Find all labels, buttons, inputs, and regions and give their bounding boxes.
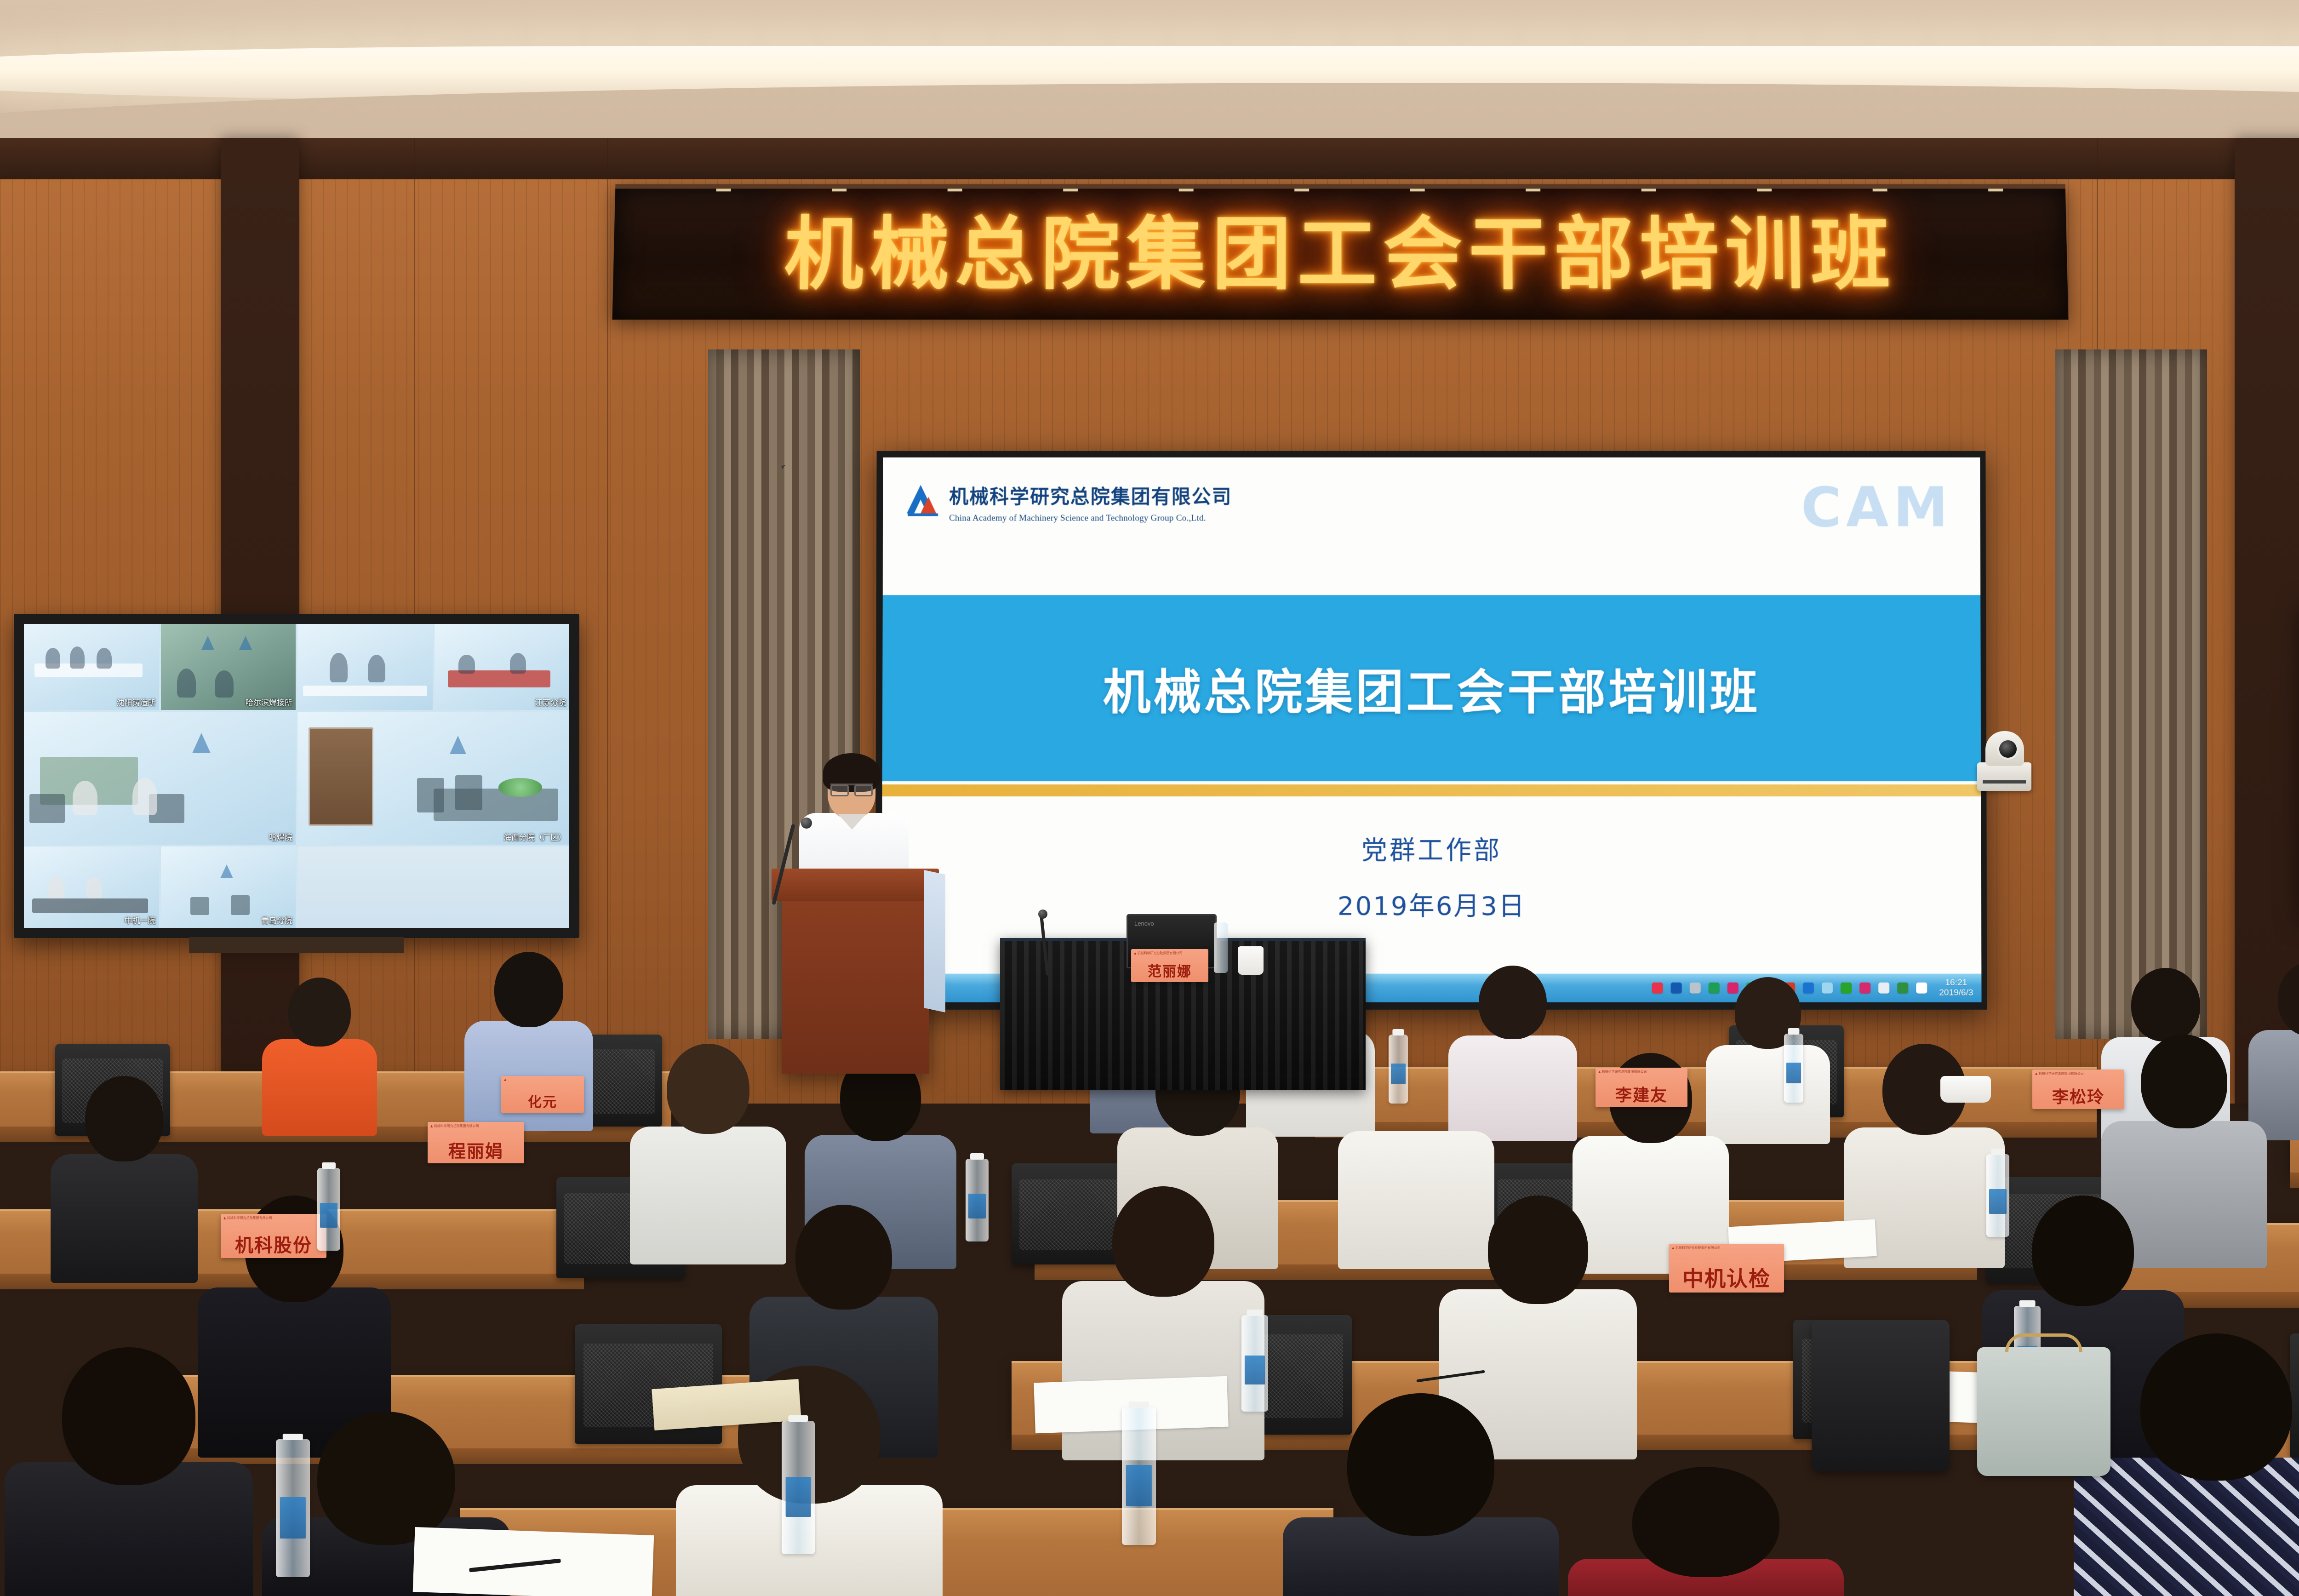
water-bottle xyxy=(1214,922,1228,973)
placard-text: 程丽娟 xyxy=(448,1143,503,1163)
water-bottle xyxy=(782,1421,815,1554)
multiview-cell-empty xyxy=(297,847,569,928)
placard-text: 李松玲 xyxy=(2052,1089,2105,1109)
multiview-cell: 江苏分院 xyxy=(435,624,570,710)
laptop-brand-label: Lenovo xyxy=(1134,920,1154,927)
multiview-cell xyxy=(297,624,433,710)
water-bottle xyxy=(1784,1034,1803,1103)
taskbar-date: 2019/6/3 xyxy=(1939,988,1973,998)
led-banner: 机械总院集团工会干部培训班 xyxy=(612,184,2069,320)
audience-member xyxy=(257,975,382,1127)
podium-microphone-head xyxy=(801,818,812,829)
monitor-wall-mount xyxy=(189,937,404,953)
multiview-cell-label: 中机一院 xyxy=(125,914,156,926)
multiview-cell: 海西分院（厂区） xyxy=(297,712,569,845)
sogou-input-icon[interactable] xyxy=(1652,983,1663,994)
multiview-cell: 哈焊院 xyxy=(24,712,296,845)
taskbar-clock[interactable]: 16:21 2019/6/3 xyxy=(1939,978,1973,998)
organisation-placard: ▲ 机械科学研究总院集团有限公司 中机认检 xyxy=(1669,1244,1784,1293)
printer-error-icon[interactable] xyxy=(1859,983,1870,994)
podium-top xyxy=(772,869,939,901)
multiview-cell-label: 哈尔滨焊接所 xyxy=(246,696,292,708)
cam-logo-icon xyxy=(907,481,942,516)
audience-member-foreground xyxy=(1563,1467,1848,1596)
placard-text: 中机认检 xyxy=(1682,1268,1771,1293)
name-placard: ▲ 机械科学研究总院集团有限公司 程丽娟 xyxy=(428,1122,524,1163)
audience-member-foreground xyxy=(0,1347,257,1596)
placard-logo: ▲ 机械科学研究总院集团有限公司 xyxy=(1672,1246,1721,1250)
water-bottle xyxy=(317,1168,340,1251)
slide-date: 2019年6月3日 xyxy=(882,885,1981,922)
coffee-mug xyxy=(1238,946,1264,975)
network-signal-icon[interactable] xyxy=(1897,983,1908,994)
presentation-slide: CAM 机械科学研究总院集团有限公司 China Academy of Mach… xyxy=(881,458,1981,1002)
wall-seam xyxy=(607,138,608,1104)
glasses-icon xyxy=(830,784,873,793)
pin-icon[interactable] xyxy=(1690,983,1701,994)
slide-title: 机械总院集团工会干部培训班 xyxy=(1103,653,1761,723)
wall-upper-dark-band xyxy=(0,138,2299,179)
multiview-cell-label: 沈阳铸造所 xyxy=(117,696,156,708)
placard-logo: ▲ 机械科学研究总院集团有限公司 xyxy=(430,1124,479,1128)
ptz-camera xyxy=(1977,731,2031,791)
placard-logo: ▲ 机械科学研究总院集团有限公司 xyxy=(1598,1070,1647,1074)
slide-department: 党群工作部 xyxy=(882,829,1981,867)
multiview-cell-label: 青岛分院 xyxy=(261,914,292,926)
help-icon[interactable] xyxy=(1671,983,1682,994)
multiview-cell: 中机一院 xyxy=(24,847,159,928)
water-bottle xyxy=(966,1159,989,1241)
placard-logo: ▲ 机械科学研究总院集团有限公司 xyxy=(223,1216,272,1220)
water-bottle xyxy=(276,1439,310,1577)
slide-title-band: 机械总院集团工会干部培训班 xyxy=(882,595,1981,781)
audience-member-foreground xyxy=(1278,1393,1563,1596)
water-bottle xyxy=(1122,1407,1156,1545)
taskbar-time: 16:21 xyxy=(1939,978,1973,988)
name-placard: ▲ 机械科学研究总院集团有限公司 李松玲 xyxy=(2032,1070,2124,1109)
head-table-microphone-head xyxy=(1038,910,1047,919)
multiview-grid-left: 沈阳铸造所 哈尔滨焊接所 江苏分院 xyxy=(24,624,569,928)
slide-accent-rule xyxy=(882,784,1981,796)
audience-member xyxy=(46,1076,202,1274)
organisation-placard: ▲ 机械科学研究总院集团有限公司 机科股份 xyxy=(221,1214,326,1258)
multiview-cell: 哈尔滨焊接所 xyxy=(161,624,296,710)
podium xyxy=(782,881,929,1074)
backpack xyxy=(1812,1320,1950,1471)
update-icon[interactable] xyxy=(1841,983,1852,994)
volume-icon[interactable] xyxy=(1916,983,1927,994)
placard-logo: ▲ xyxy=(504,1078,506,1081)
name-placard: ▲ 机械科学研究总院集团有限公司 李建友 xyxy=(1596,1068,1687,1107)
stage-curtain-right xyxy=(2055,349,2207,1039)
camera-lens-icon xyxy=(1997,738,2019,760)
placard-text: 李建友 xyxy=(1615,1087,1668,1107)
podium-side-panel xyxy=(924,870,945,1013)
placard-logo: ▲ 机械科学研究总院集团有限公司 xyxy=(2035,1071,2084,1076)
multiview-cell-label: 江苏分院 xyxy=(535,696,566,708)
slide-subtitle-block: 党群工作部 2019年6月3日 xyxy=(882,829,1981,922)
banner-title-text: 机械总院集团工会干部培训班 xyxy=(783,215,1897,294)
organisation-placard: ▲ 化元 xyxy=(501,1076,584,1113)
white-saucer xyxy=(1940,1076,1991,1103)
water-bottle xyxy=(1389,1035,1408,1104)
cam-watermark: CAM xyxy=(1801,476,1953,540)
wall-dark-column-right xyxy=(2235,138,2299,1104)
water-bottle xyxy=(1241,1315,1268,1412)
battery-icon[interactable] xyxy=(1878,983,1889,994)
company-logo: 机械科学研究总院集团有限公司 China Academy of Machiner… xyxy=(907,481,1232,524)
logo-english-name: China Academy of Machinery Science and T… xyxy=(949,514,1232,524)
multiview-cell: 青岛分院 xyxy=(161,847,296,928)
multiview-cell-label: 哈焊院 xyxy=(269,831,292,842)
water-bottle xyxy=(1986,1154,2009,1237)
name-placard: ▲ 机械科学研究总院集团有限公司 范丽娜 xyxy=(1131,949,1208,982)
logo-chinese-name: 机械科学研究总院集团有限公司 xyxy=(949,481,1232,509)
placard-text: 范丽娜 xyxy=(1148,965,1192,982)
multiview-cell-label: 海西分院（厂区） xyxy=(503,831,566,842)
conference-hall-photo: 机械总院集团工会干部培训班 CAM 机械科学研究总院集团有限公司 China A… xyxy=(0,0,2299,1596)
multiview-cell: 沈阳铸造所 xyxy=(24,624,159,710)
placard-logo: ▲ 机械科学研究总院集团有限公司 xyxy=(1134,951,1183,955)
placard-text: 化元 xyxy=(528,1096,557,1113)
placard-text: 机科股份 xyxy=(235,1236,312,1258)
video-wall-monitor-left: 沈阳铸造所 哈尔滨焊接所 江苏分院 xyxy=(14,614,579,938)
handbag xyxy=(1977,1347,2110,1476)
banner-led-strip xyxy=(615,185,2065,191)
